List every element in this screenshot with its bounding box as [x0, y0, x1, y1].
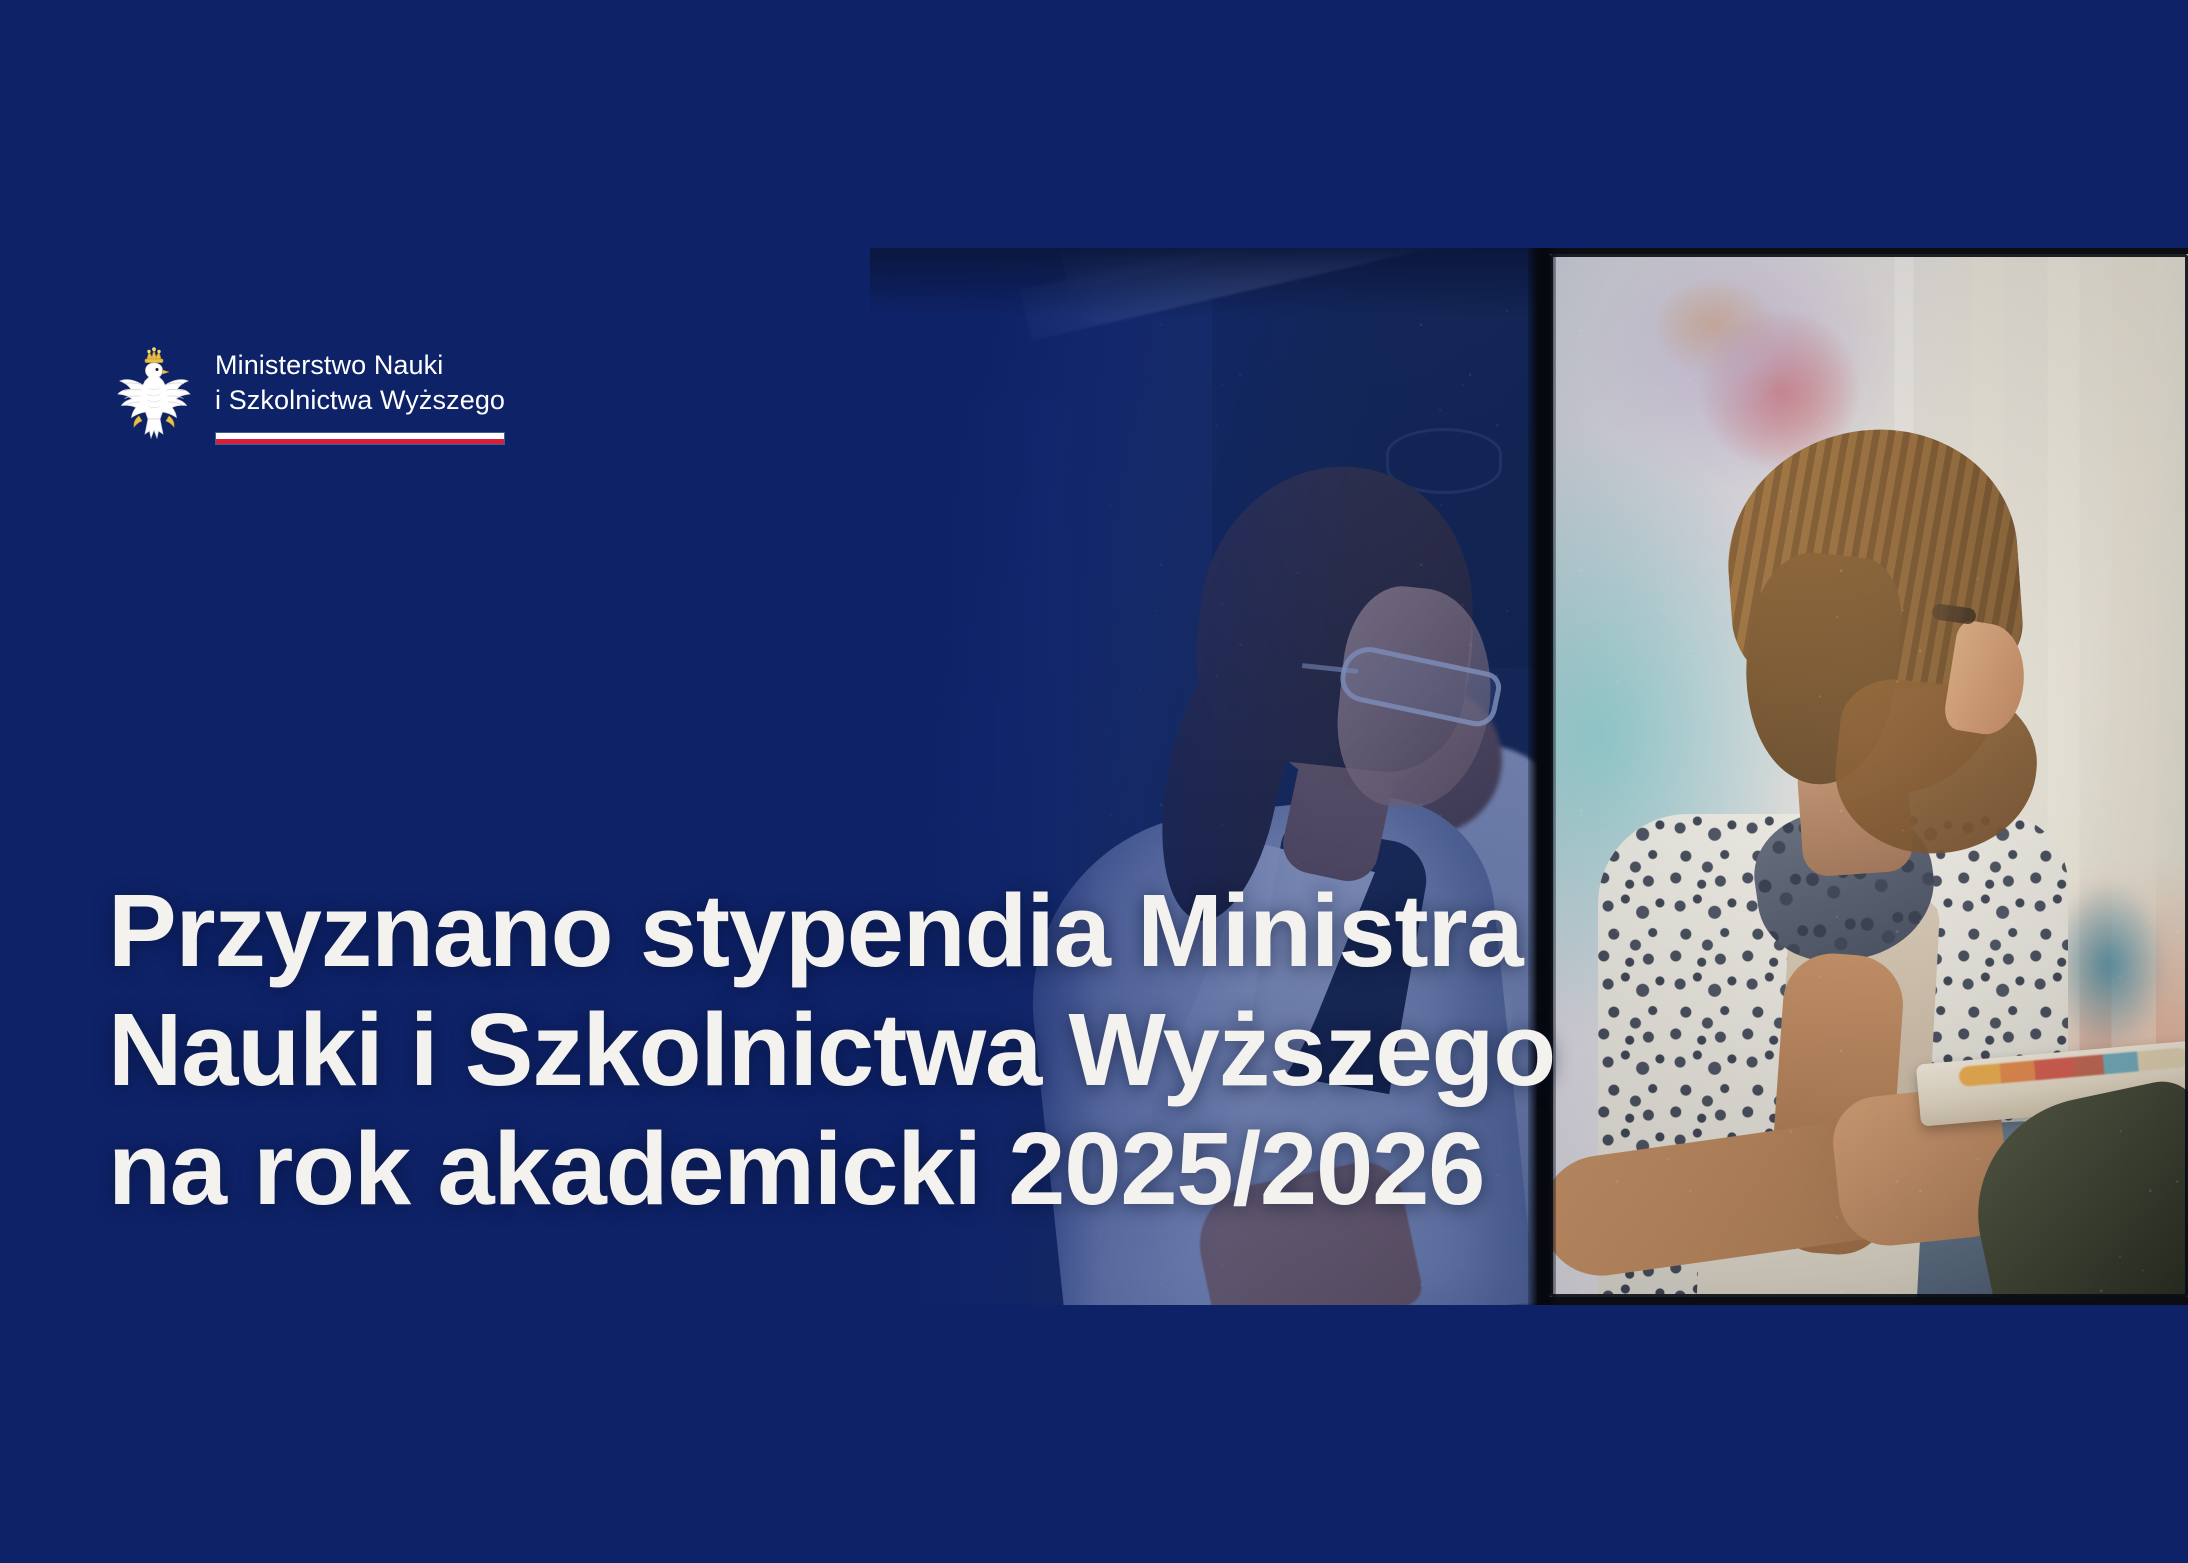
ministry-name-line-2: i Szkolnictwa Wyższego — [215, 383, 505, 418]
headline-line-1: Przyznano stypendia Ministra — [108, 872, 1368, 991]
artist-painter-photo — [1542, 248, 2188, 1305]
flag-red-stripe — [216, 439, 504, 445]
studio-scene — [1550, 254, 2188, 1297]
top-edge-fade-overlay — [870, 248, 1542, 318]
ministry-logo: Ministerstwo Nauki i Szkolnictwa Wyższeg… — [115, 342, 505, 446]
polish-eagle-emblem — [115, 342, 193, 446]
ministry-logo-text: Ministerstwo Nauki i Szkolnictwa Wyższeg… — [215, 342, 505, 445]
polish-flag-bar — [215, 432, 505, 445]
poster-canvas: Ministerstwo Nauki i Szkolnictwa Wyższeg… — [0, 0, 2188, 1563]
headline-line-2: Nauki i Szkolnictwa Wyższego — [108, 991, 1368, 1110]
page-title: Przyznano stypendia Ministra Nauki i Szk… — [108, 872, 1368, 1229]
ministry-name-line-1: Ministerstwo Nauki — [215, 348, 505, 383]
photo-divider — [1528, 248, 1556, 1305]
headline-line-3: na rok akademicki 2025/2026 — [108, 1110, 1368, 1229]
photo-inner-border — [1550, 254, 2188, 1297]
